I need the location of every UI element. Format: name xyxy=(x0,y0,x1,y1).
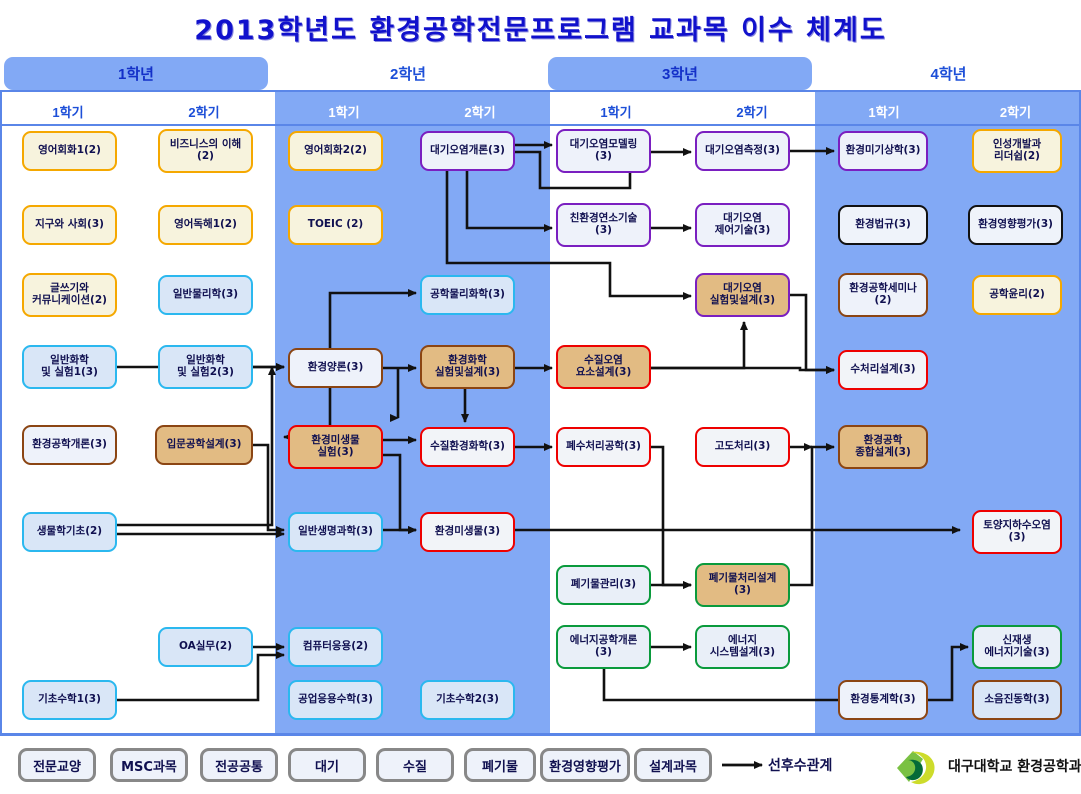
course-box-genchem2[interactable]: 일반화학및 실험2(3) xyxy=(158,345,253,389)
course-label: TOEIC (2) xyxy=(308,219,363,231)
course-label: 공업응용수학(3) xyxy=(298,694,373,706)
course-label: 환경미기상학(3) xyxy=(846,145,921,157)
course-label: 영어회화1(2) xyxy=(38,145,101,157)
course-box-airmodel[interactable]: 대기오염모델링(3) xyxy=(556,129,651,173)
arrow-envtheory-to-engphyschem xyxy=(330,293,416,348)
course-box-oa[interactable]: OA실무(2) xyxy=(158,627,253,667)
course-box-noisevib[interactable]: 소음진동학(3) xyxy=(972,680,1062,720)
course-box-airintro[interactable]: 대기오염개론(3) xyxy=(420,131,515,171)
course-box-ecocombust[interactable]: 친환경연소기술(3) xyxy=(556,203,651,247)
course-box-engphyschem[interactable]: 공학물리화학(3) xyxy=(420,275,515,315)
course-label: 환경화학실험및설계(3) xyxy=(435,355,500,379)
course-label: 대기오염모델링(3) xyxy=(570,139,638,163)
daegu-university-logo-icon xyxy=(893,748,939,788)
arrow-waterdes-to-airlabdes-up xyxy=(651,322,744,368)
course-label: 일반화학및 실험2(3) xyxy=(177,355,234,379)
course-label: 일반물리학(3) xyxy=(173,289,238,301)
course-label: 일반화학및 실험1(3) xyxy=(41,355,98,379)
course-box-engethics[interactable]: 공학윤리(2) xyxy=(972,275,1062,315)
course-box-airlabdes[interactable]: 대기오염실험및설계(3) xyxy=(695,273,790,317)
course-box-introdes[interactable]: 입문공학설계(3) xyxy=(155,425,253,465)
course-box-envmicrolab[interactable]: 환경미생물실험(3) xyxy=(288,425,383,469)
arrow-wastewater-to-wastedes xyxy=(651,447,691,585)
legend-arrow-label: 선후수관계 xyxy=(768,755,832,775)
course-label: 수질환경화학(3) xyxy=(430,441,505,453)
course-box-airctrl[interactable]: 대기오염제어기술(3) xyxy=(695,203,790,247)
course-box-envintro[interactable]: 환경공학개론(3) xyxy=(22,425,117,465)
course-box-envstat[interactable]: 환경통계학(3) xyxy=(838,680,928,720)
course-label: 에너지시스템설계(3) xyxy=(710,635,775,659)
course-label: 대기오염제어기술(3) xyxy=(715,213,771,237)
course-box-wastedes[interactable]: 폐기물처리설계(3) xyxy=(695,563,790,607)
course-label: 환경양론(3) xyxy=(308,362,364,374)
course-box-renewable[interactable]: 신재생에너지기술(3) xyxy=(972,625,1062,669)
course-box-engread1[interactable]: 영어독해1(2) xyxy=(158,205,253,245)
course-label: 환경공학개론(3) xyxy=(32,439,107,451)
course-box-wastemgmt[interactable]: 폐기물관리(3) xyxy=(556,565,651,605)
course-label: 수질오염요소설계(3) xyxy=(576,355,632,379)
course-label: 인성개발과리더쉽(2) xyxy=(993,139,1041,163)
course-box-eia[interactable]: 환경영향평가(3) xyxy=(968,205,1063,245)
course-box-biobasic[interactable]: 생물학기초(2) xyxy=(22,512,117,552)
course-label: 에너지공학개론(3) xyxy=(570,635,638,659)
course-box-basicmath1[interactable]: 기초수학1(3) xyxy=(22,680,117,720)
prerequisite-arrows xyxy=(0,0,1081,794)
course-label: 지구와 사회(3) xyxy=(35,219,104,231)
course-label: 환경통계학(3) xyxy=(850,694,915,706)
course-box-indmath[interactable]: 공업응용수학(3) xyxy=(288,680,383,720)
course-label: 입문공학설계(3) xyxy=(167,439,242,451)
course-box-writing[interactable]: 글쓰기와커뮤니케이션(2) xyxy=(22,273,117,317)
course-label: 환경공학세미나(2) xyxy=(849,283,917,307)
legend-item-lg-water: 수질 xyxy=(376,748,454,782)
course-label: 환경미생물(3) xyxy=(435,526,500,538)
course-label: 기초수학1(3) xyxy=(38,694,101,706)
legend-item-lg-air: 대기 xyxy=(288,748,366,782)
course-box-wastewater[interactable]: 폐수처리공학(3) xyxy=(556,427,651,467)
course-box-biz[interactable]: 비즈니스의 이해(2) xyxy=(158,129,253,173)
course-box-basicmath2[interactable]: 기초수학2(3) xyxy=(420,680,515,720)
course-label: OA실무(2) xyxy=(179,641,232,653)
course-label: 소음진동학(3) xyxy=(984,694,1049,706)
arrow-wastedes-to-capstone xyxy=(790,447,834,585)
course-label: 공학윤리(2) xyxy=(989,289,1045,301)
course-label: 토양지하수오염(3) xyxy=(983,520,1051,544)
course-label: 환경공학종합설계(3) xyxy=(855,435,911,459)
course-label: 일반생명과학(3) xyxy=(298,526,373,538)
course-box-waterchem[interactable]: 수질환경화학(3) xyxy=(420,427,515,467)
course-box-soilgw[interactable]: 토양지하수오염(3) xyxy=(972,510,1062,554)
course-label: 영어독해1(2) xyxy=(174,219,237,231)
course-box-advtreat[interactable]: 고도처리(3) xyxy=(695,427,790,467)
course-label: 수처리설계(3) xyxy=(850,364,915,376)
course-label: 친환경연소기술(3) xyxy=(570,213,638,237)
legend-item-lg-design: 설계과목 xyxy=(634,748,712,782)
course-box-waterfacil[interactable]: 수처리설계(3) xyxy=(838,350,928,390)
course-box-envlaw[interactable]: 환경법규(3) xyxy=(838,205,928,245)
course-box-toeic[interactable]: TOEIC (2) xyxy=(288,205,383,245)
legend-item-lg-eia: 환경영향평가 xyxy=(540,748,630,782)
legend-item-lg-gyoyang: 전문교양 xyxy=(18,748,96,782)
course-box-genchem1[interactable]: 일반화학및 실험1(3) xyxy=(22,345,117,389)
course-box-capstone[interactable]: 환경공학종합설계(3) xyxy=(838,425,928,469)
arrow-airlabdes-to-waterfacil xyxy=(790,295,834,370)
course-box-energysys[interactable]: 에너지시스템설계(3) xyxy=(695,625,790,669)
course-label: 컴퓨터응용(2) xyxy=(303,641,368,653)
course-label: 기초수학2(3) xyxy=(436,694,499,706)
course-box-seminar[interactable]: 환경공학세미나(2) xyxy=(838,273,928,317)
curriculum-flowchart-page: 2013학년도 환경공학전문프로그램 교과목 이수 체계도 1학년2학년3학년4… xyxy=(0,0,1081,794)
course-box-eng1[interactable]: 영어회화1(2) xyxy=(22,131,117,171)
course-box-waterdes[interactable]: 수질오염요소설계(3) xyxy=(556,345,651,389)
legend-item-lg-common: 전공공통 xyxy=(200,748,278,782)
course-label: 대기오염개론(3) xyxy=(430,145,505,157)
legend-item-lg-msc: MSC과목 xyxy=(110,748,188,782)
course-label: 환경미생물실험(3) xyxy=(311,435,359,459)
course-label: 생물학기초(2) xyxy=(37,526,102,538)
arrow-introdes-down xyxy=(253,445,284,530)
course-label: 영어회화2(2) xyxy=(304,145,367,157)
course-box-leadership[interactable]: 인성개발과리더쉽(2) xyxy=(972,129,1062,173)
university-department-label: 대구대학교 환경공학과 xyxy=(948,756,1081,776)
course-box-genlifesci[interactable]: 일반생명과학(3) xyxy=(288,512,383,552)
course-label: 고도처리(3) xyxy=(715,441,771,453)
course-label: 공학물리화학(3) xyxy=(430,289,505,301)
course-box-airmeasure[interactable]: 대기오염측정(3) xyxy=(695,131,790,171)
course-label: 폐수처리공학(3) xyxy=(566,441,641,453)
arrow-envmicrolab-to-envmicro xyxy=(383,455,416,530)
course-label: 신재생에너지기술(3) xyxy=(984,635,1049,659)
course-label: 환경영향평가(3) xyxy=(978,219,1053,231)
course-box-energyintro[interactable]: 에너지공학개론(3) xyxy=(556,625,651,669)
course-box-envtheory[interactable]: 환경양론(3) xyxy=(288,348,383,388)
course-box-eng2[interactable]: 영어회화2(2) xyxy=(288,131,383,171)
course-box-earth[interactable]: 지구와 사회(3) xyxy=(22,205,117,245)
course-label: 대기오염실험및설계(3) xyxy=(710,283,775,307)
legend-item-lg-waste: 폐기물 xyxy=(464,748,536,782)
course-label: 비즈니스의 이해(2) xyxy=(170,139,241,163)
course-box-envmicro[interactable]: 환경미생물(3) xyxy=(420,512,515,552)
course-label: 글쓰기와커뮤니케이션(2) xyxy=(32,283,107,307)
course-label: 폐기물처리설계(3) xyxy=(709,573,777,597)
course-box-genphys[interactable]: 일반물리학(3) xyxy=(158,275,253,315)
course-box-envchemlab[interactable]: 환경화학실험및설계(3) xyxy=(420,345,515,389)
course-label: 대기오염측정(3) xyxy=(705,145,780,157)
course-label: 폐기물관리(3) xyxy=(571,579,636,591)
course-box-compapp[interactable]: 컴퓨터응용(2) xyxy=(288,627,383,667)
course-label: 환경법규(3) xyxy=(855,219,911,231)
course-box-micrometeo[interactable]: 환경미기상학(3) xyxy=(838,131,928,171)
